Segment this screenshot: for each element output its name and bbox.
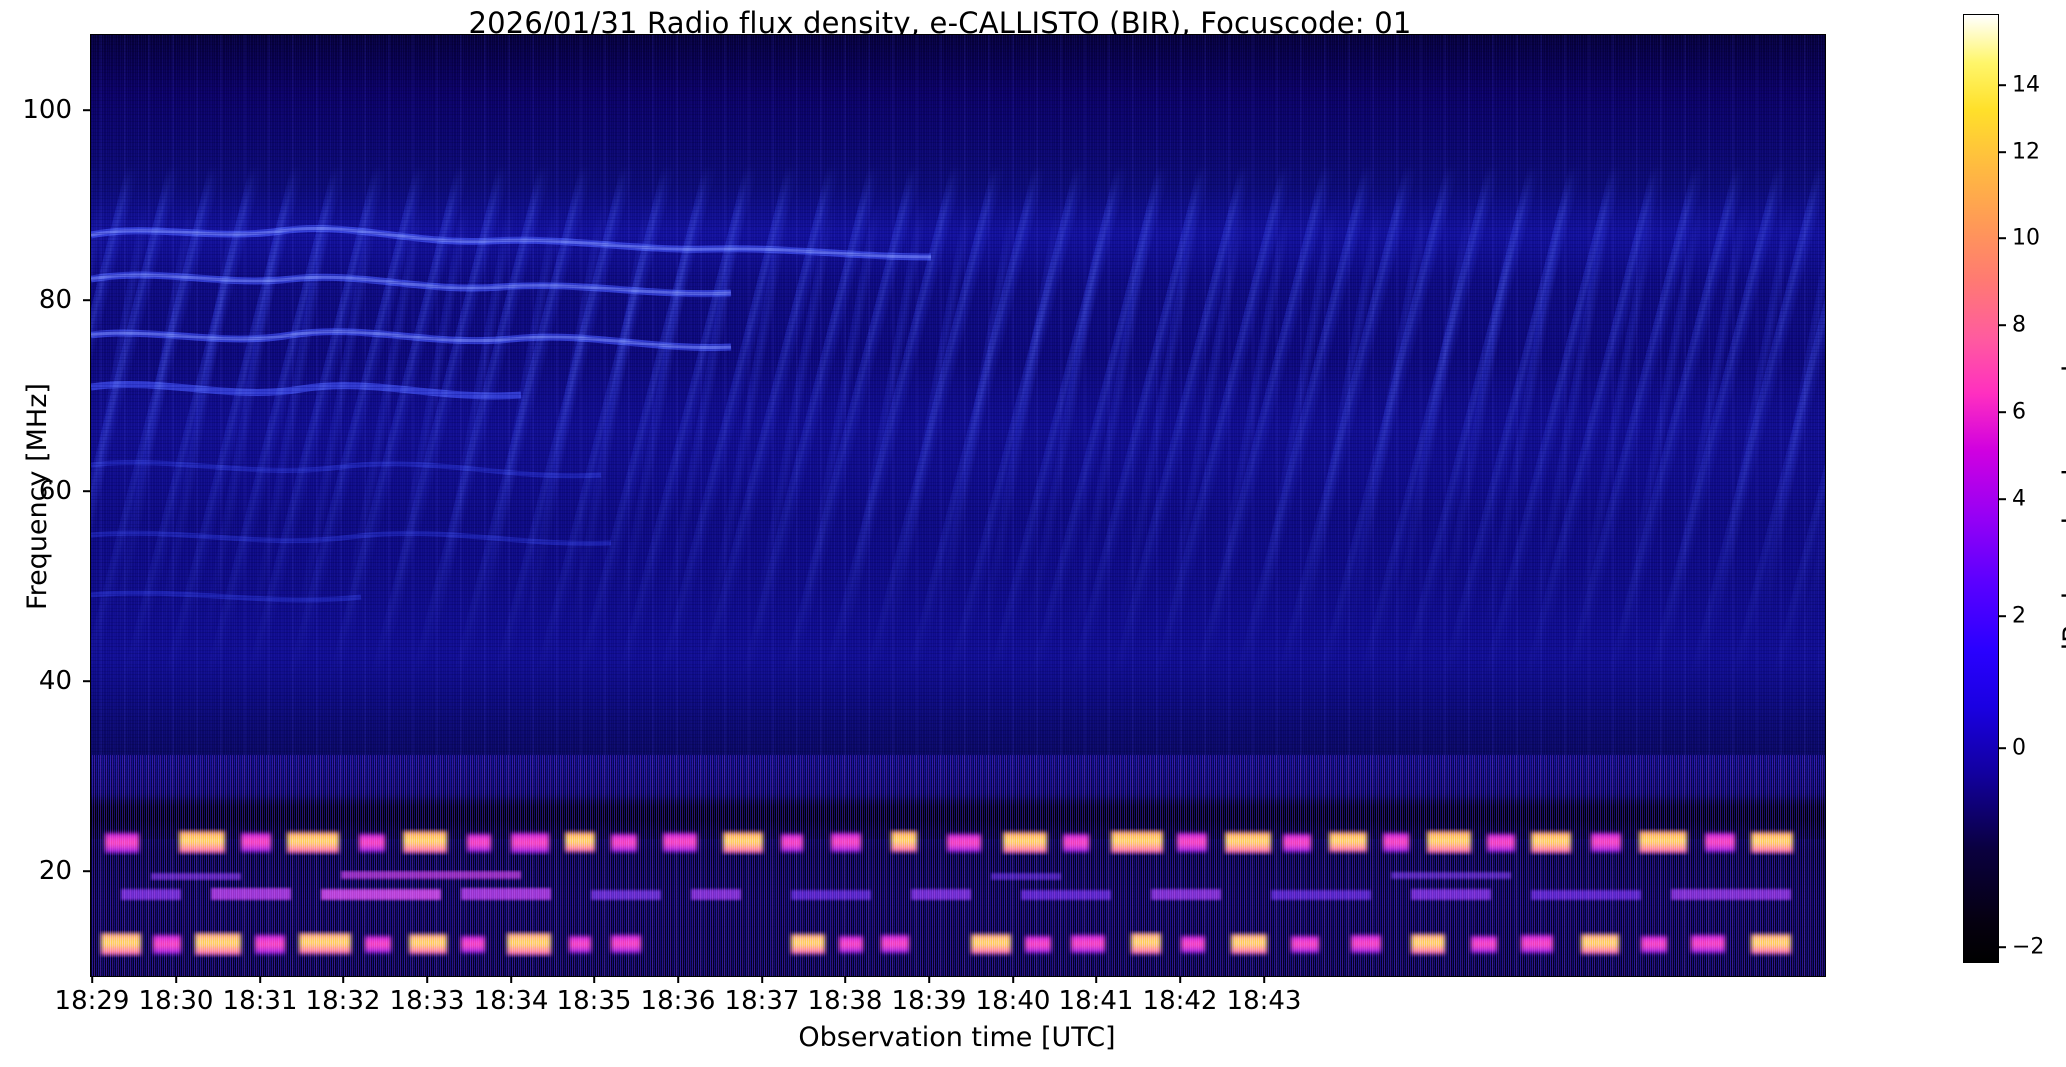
colorbar-tick-label-2: 2 bbox=[2012, 604, 2026, 629]
y-tick-mark bbox=[83, 870, 90, 872]
y-axis-label: Frequency [MHz] bbox=[22, 383, 53, 610]
colorbar-tick-mark bbox=[1998, 615, 2006, 617]
figure-root: 2026/01/31 Radio flux density, e-CALLIST… bbox=[0, 0, 2066, 1067]
x-tick-mark bbox=[259, 976, 261, 983]
x-tick-label-1831: 18:31 bbox=[223, 986, 298, 1016]
x-tick-label-1830: 18:30 bbox=[139, 986, 214, 1016]
x-tick-mark bbox=[593, 976, 595, 983]
colorbar-tick-mark bbox=[1998, 237, 2006, 239]
spectrogram-plot-area bbox=[90, 34, 1826, 977]
x-tick-mark bbox=[928, 976, 930, 983]
x-tick-mark bbox=[91, 976, 93, 983]
x-tick-label-1832: 18:32 bbox=[306, 986, 381, 1016]
colorbar-tick-label-10: 10 bbox=[2012, 226, 2040, 251]
colorbar-tick-label-6: 6 bbox=[2012, 400, 2026, 425]
x-tick-label-1835: 18:35 bbox=[557, 986, 632, 1016]
colorbar-label: dB above background bbox=[2058, 365, 2066, 660]
colorbar-tick-mark bbox=[1998, 324, 2006, 326]
y-tick-label-80: 80 bbox=[0, 285, 72, 315]
colorbar-tick-label-14: 14 bbox=[2012, 73, 2040, 98]
x-tick-mark bbox=[426, 976, 428, 983]
x-tick-label-1843: 18:43 bbox=[1227, 986, 1302, 1016]
y-tick-mark bbox=[83, 490, 90, 492]
colorbar-tick-label-0: 0 bbox=[2012, 736, 2026, 761]
colorbar-tick-label-4: 4 bbox=[2012, 487, 2026, 512]
x-tick-mark bbox=[1179, 976, 1181, 983]
x-tick-mark bbox=[677, 976, 679, 983]
x-tick-mark bbox=[175, 976, 177, 983]
x-tick-label-1839: 18:39 bbox=[892, 986, 967, 1016]
x-axis-label: Observation time [UTC] bbox=[798, 1022, 1115, 1053]
x-tick-mark bbox=[1012, 976, 1014, 983]
colorbar-tick-label-8: 8 bbox=[2012, 313, 2026, 338]
colorbar-gradient bbox=[1963, 14, 1999, 963]
y-tick-label-40: 40 bbox=[0, 666, 72, 696]
y-tick-label-20: 20 bbox=[0, 856, 72, 886]
y-tick-mark bbox=[83, 680, 90, 682]
x-tick-label-1841: 18:41 bbox=[1059, 986, 1134, 1016]
x-tick-label-1834: 18:34 bbox=[474, 986, 549, 1016]
x-tick-mark bbox=[1095, 976, 1097, 983]
x-tick-mark bbox=[342, 976, 344, 983]
x-tick-mark bbox=[761, 976, 763, 983]
x-tick-label-1829: 18:29 bbox=[55, 986, 130, 1016]
colorbar-tick-label-minus2: −2 bbox=[2012, 935, 2044, 960]
x-tick-label-1840: 18:40 bbox=[976, 986, 1051, 1016]
rfi-blobs bbox=[91, 35, 1825, 976]
x-tick-mark bbox=[1263, 976, 1265, 983]
x-tick-mark bbox=[510, 976, 512, 983]
y-tick-label-100: 100 bbox=[0, 95, 72, 125]
y-tick-mark bbox=[83, 109, 90, 111]
colorbar-tick-mark bbox=[1998, 498, 2006, 500]
y-tick-mark bbox=[83, 299, 90, 301]
x-tick-mark bbox=[844, 976, 846, 983]
x-tick-label-1833: 18:33 bbox=[390, 986, 465, 1016]
x-tick-label-1838: 18:38 bbox=[808, 986, 883, 1016]
colorbar-tick-mark bbox=[1998, 946, 2006, 948]
colorbar-tick-mark bbox=[1998, 747, 2006, 749]
colorbar-tick-mark bbox=[1998, 411, 2006, 413]
x-tick-label-1837: 18:37 bbox=[725, 986, 800, 1016]
colorbar-tick-mark bbox=[1998, 84, 2006, 86]
colorbar-tick-mark bbox=[1998, 151, 2006, 153]
x-tick-label-1842: 18:42 bbox=[1143, 986, 1218, 1016]
colorbar-tick-label-12: 12 bbox=[2012, 140, 2040, 165]
x-tick-label-1836: 18:36 bbox=[641, 986, 716, 1016]
